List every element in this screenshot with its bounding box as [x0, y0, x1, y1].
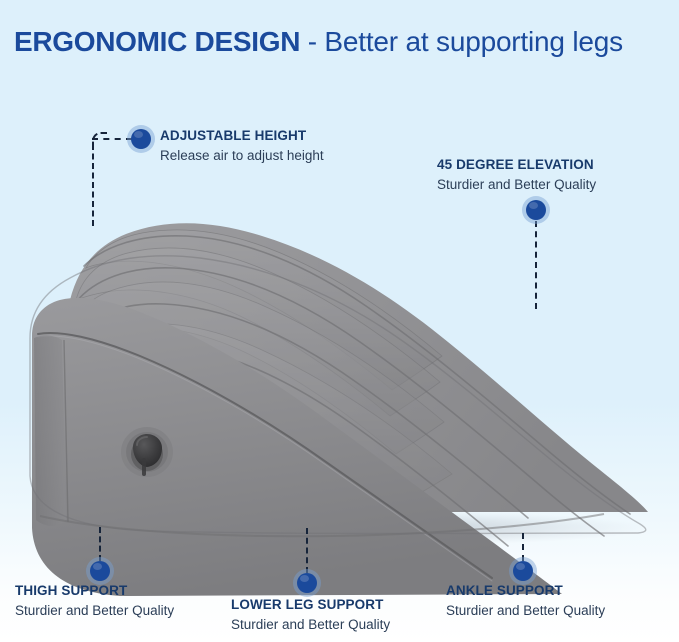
callout-caption: THIGH SUPPORT [15, 583, 174, 600]
callout-dot-thigh-support [90, 561, 110, 581]
leader-line-adjustable-corner [92, 132, 108, 148]
leader-line-thigh [99, 527, 101, 561]
callout-caption: 45 DEGREE ELEVATION [437, 157, 596, 174]
callout-adjustable-height: ADJUSTABLE HEIGHT Release air to adjust … [160, 128, 324, 165]
callout-thigh-support: THIGH SUPPORT Sturdier and Better Qualit… [15, 583, 174, 620]
callout-45-degree-elevation: 45 DEGREE ELEVATION Sturdier and Better … [437, 157, 596, 194]
product-infographic: ERGONOMIC DESIGN - Better at supporting … [0, 0, 679, 642]
leader-line-elevation [535, 221, 537, 309]
callout-dot-ankle-support [513, 561, 533, 581]
callout-caption: ANKLE SUPPORT [446, 583, 605, 600]
callout-lower-leg-support: LOWER LEG SUPPORT Sturdier and Better Qu… [231, 597, 390, 634]
callout-subtext: Sturdier and Better Quality [437, 176, 596, 194]
callout-caption: ADJUSTABLE HEIGHT [160, 128, 324, 145]
callout-subtext: Sturdier and Better Quality [446, 602, 605, 620]
callout-dot-45-degree-elevation [526, 200, 546, 220]
callout-subtext: Sturdier and Better Quality [231, 616, 390, 634]
callout-subtext: Sturdier and Better Quality [15, 602, 174, 620]
leader-line-ankle [522, 533, 524, 561]
callout-dot-lower-leg-support [297, 573, 317, 593]
leader-line-lower-leg [306, 528, 308, 573]
leader-line-adjustable-vertical [92, 144, 94, 226]
air-valve-icon [121, 427, 173, 477]
callout-caption: LOWER LEG SUPPORT [231, 597, 390, 614]
callout-dot-adjustable-height [131, 129, 151, 149]
callout-subtext: Release air to adjust height [160, 147, 324, 165]
callout-ankle-support: ANKLE SUPPORT Sturdier and Better Qualit… [446, 583, 605, 620]
leader-line-adjustable-horizontal [92, 138, 132, 140]
product-image [0, 0, 679, 642]
